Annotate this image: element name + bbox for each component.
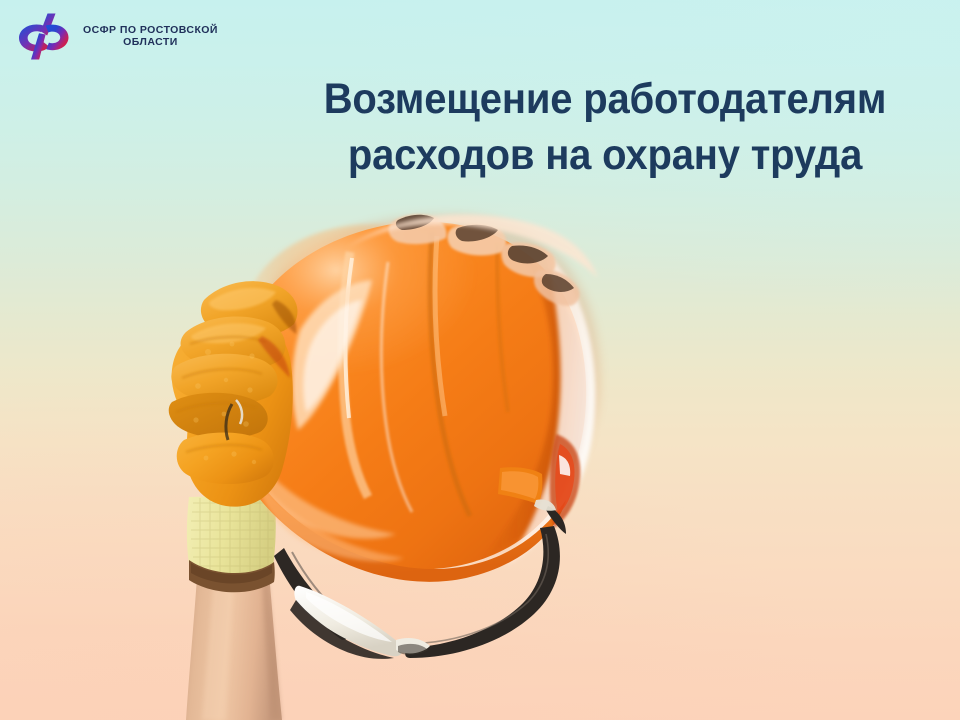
organization-name-line2: ОБЛАСТИ bbox=[123, 36, 178, 48]
sfr-emblem-icon bbox=[14, 10, 74, 62]
page-title: Возмещение работодателям расходов на охр… bbox=[293, 72, 916, 184]
organization-logo: ОСФР ПО РОСТОВСКОЙ ОБЛАСТИ bbox=[14, 10, 218, 62]
work-glove bbox=[169, 281, 298, 506]
glove-cuff bbox=[187, 495, 276, 592]
slide-canvas: ОСФР ПО РОСТОВСКОЙ ОБЛАСТИ Возмещение ра… bbox=[0, 0, 960, 720]
organization-name-line1: ОСФР ПО РОСТОВСКОЙ bbox=[83, 24, 218, 36]
organization-name: ОСФР ПО РОСТОВСКОЙ ОБЛАСТИ bbox=[83, 24, 218, 49]
